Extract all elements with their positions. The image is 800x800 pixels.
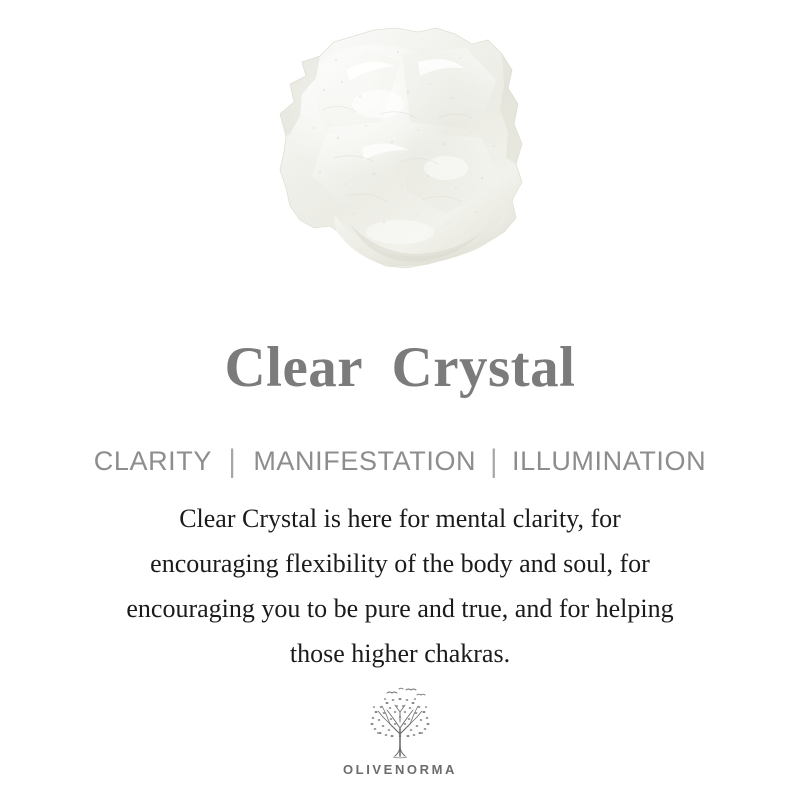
- keyword-clarity: CLARITY: [94, 446, 212, 476]
- page-title: Clear Crystal: [0, 336, 800, 400]
- description-line: those higher chakras.: [30, 631, 770, 676]
- keyword-illumination: ILLUMINATION: [512, 446, 706, 476]
- clear-crystal-stone-icon: [250, 18, 550, 303]
- keyword-separator: |: [229, 441, 237, 480]
- keyword-list: CLARITY | MANIFESTATION | ILLUMINATION: [0, 444, 800, 478]
- brand-logo: OLIVENORMA: [0, 686, 800, 777]
- keyword-separator: |: [490, 441, 498, 480]
- description-text: Clear Crystal is here for mental clarity…: [30, 496, 770, 676]
- description-line: Clear Crystal is here for mental clarity…: [30, 496, 770, 541]
- product-info-card: Clear Crystal CLARITY | MANIFESTATION | …: [0, 0, 800, 800]
- product-image-container: [0, 18, 800, 303]
- olive-tree-icon: [357, 686, 443, 760]
- description-line: encouraging you to be pure and true, and…: [30, 586, 770, 631]
- keyword-manifestation: MANIFESTATION: [253, 446, 476, 476]
- brand-name: OLIVENORMA: [343, 762, 457, 777]
- description-line: encouraging flexibility of the body and …: [30, 541, 770, 586]
